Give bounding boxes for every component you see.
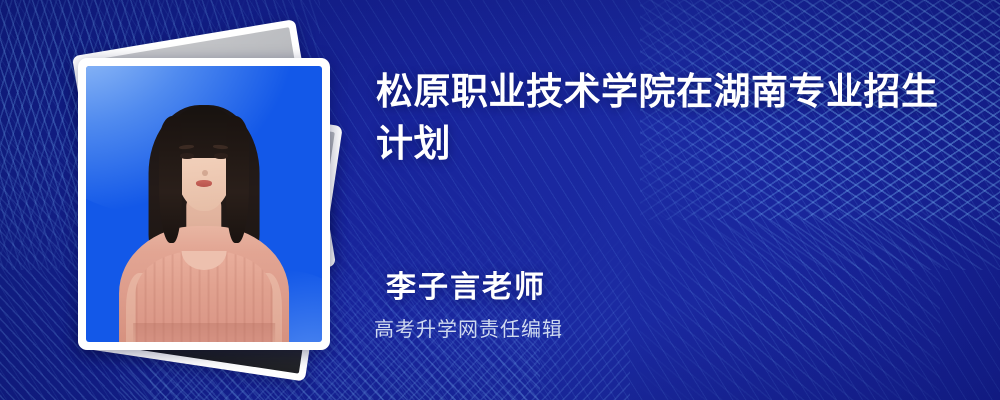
page-title: 松原职业技术学院在湖南专业招生计划: [376, 66, 966, 170]
portrait-hair-left: [159, 116, 181, 243]
author-role: 高考升学网责任编辑: [374, 316, 563, 344]
author-name: 李子言老师: [386, 268, 563, 308]
photo-stack: [55, 30, 355, 370]
promo-banner: 松原职业技术学院在湖南专业招生计划 李子言老师 高考升学网责任编辑: [0, 0, 1000, 400]
portrait-lips: [196, 180, 212, 187]
portrait-eye-right: [214, 153, 227, 159]
portrait-nose: [202, 170, 208, 176]
front-photo-card: [78, 58, 330, 350]
id-photo: [86, 66, 322, 342]
portrait-hair-right: [226, 116, 248, 243]
portrait-figure: [86, 66, 322, 342]
headline-block: 松原职业技术学院在湖南专业招生计划: [376, 66, 966, 170]
byline-block: 李子言老师 高考升学网责任编辑: [386, 268, 563, 344]
portrait-dress-waist: [133, 323, 275, 342]
portrait-eye-left: [180, 153, 193, 159]
